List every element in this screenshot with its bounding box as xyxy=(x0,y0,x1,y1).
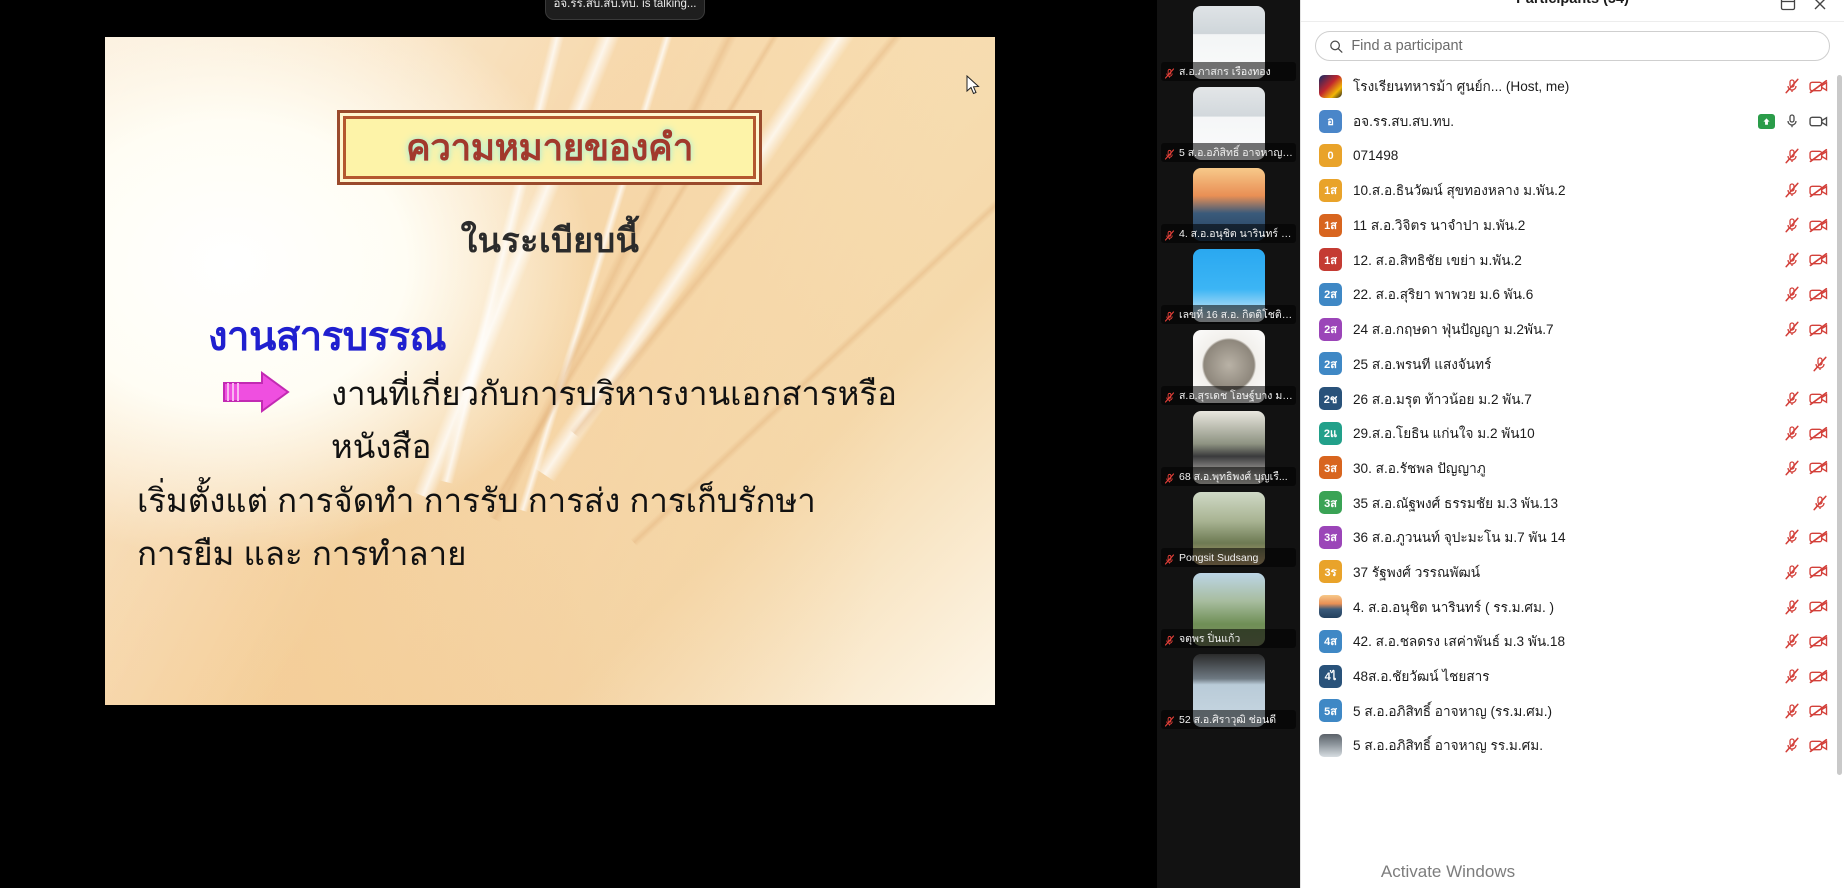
camera-off-icon xyxy=(1809,564,1828,579)
camera-off-icon xyxy=(1809,287,1828,302)
avatar: 1ส xyxy=(1319,248,1342,271)
meeting-stage: อจ.รร.สบ.สบ.ทบ. is talking... ความหมายขอ… xyxy=(0,0,1300,888)
avatar xyxy=(1319,734,1342,757)
mic-off-icon xyxy=(1784,703,1800,719)
mic-off-icon xyxy=(1784,737,1800,753)
avatar: 4ส xyxy=(1319,630,1342,653)
participant-search-wrapper xyxy=(1301,22,1844,69)
participant-row[interactable]: ออจ.รร.สบ.สบ.ทบ. xyxy=(1301,104,1844,139)
mic-off-icon xyxy=(1164,552,1175,563)
participant-row[interactable]: 2ส22. ส.อ.สุริยา พาพวย ม.6 พัน.6 xyxy=(1301,277,1844,312)
slide-heading: งานสารบรรณ xyxy=(208,304,446,368)
avatar: 3ส xyxy=(1319,526,1342,549)
mic-off-icon xyxy=(1784,78,1800,94)
participant-row[interactable]: 3ส35 ส.อ.ณัฐพงศ์ ธรรมชัย ม.3 พัน.13 xyxy=(1301,485,1844,520)
camera-off-icon xyxy=(1809,530,1828,545)
avatar: 2ส xyxy=(1319,283,1342,306)
participant-name: อจ.รร.สบ.สบ.ทบ. xyxy=(1353,110,1747,132)
participant-row[interactable]: 1ส11 ส.อ.วิจิตร นาจำปา ม.พัน.2 xyxy=(1301,208,1844,243)
mic-off-icon xyxy=(1784,425,1800,441)
participant-name: 42. ส.อ.ชลดรง เสค่าพันธ์ ม.3 พัน.18 xyxy=(1353,630,1773,652)
participants-list[interactable]: โรงเรียนทหารม้า ศูนย์ก... (Host, me) ออจ… xyxy=(1301,69,1844,888)
mic-off-icon xyxy=(1784,668,1800,684)
participant-name: 071498 xyxy=(1353,148,1773,163)
mic-off-icon xyxy=(1164,633,1175,644)
mic-off-icon xyxy=(1164,635,1175,646)
thumbnail-label: ส.อ.ภาสกร เรืองทอง xyxy=(1161,62,1296,81)
avatar xyxy=(1319,595,1342,618)
participant-name: 4. ส.อ.อนุชิต นารินทร์ ( รร.ม.ศม. ) xyxy=(1353,596,1773,618)
participant-name: 25 ส.อ.พรนที แสงจันทร์ xyxy=(1353,353,1801,375)
participants-panel-title: Participants (54) xyxy=(1301,0,1844,7)
participant-row[interactable]: 0071498 xyxy=(1301,138,1844,173)
participant-status-badges xyxy=(1784,391,1828,407)
mic-off-icon xyxy=(1164,471,1175,482)
camera-off-icon xyxy=(1809,391,1828,406)
mic-off-icon xyxy=(1784,564,1800,580)
mic-off-icon xyxy=(1164,390,1175,401)
mic-off-icon xyxy=(1784,391,1800,407)
participant-row[interactable]: 2ส25 ส.อ.พรนที แสงจันทร์ xyxy=(1301,347,1844,382)
camera-off-icon xyxy=(1809,669,1828,684)
participant-row[interactable]: 2แ29.ส.อ.โยธิน แก่นใจ ม.2 พัน10 xyxy=(1301,416,1844,451)
participants-scrollbar[interactable] xyxy=(1837,75,1842,775)
avatar: 2แ xyxy=(1319,422,1342,445)
mic-off-icon xyxy=(1164,473,1175,484)
video-thumbnail-strip[interactable]: ส.อ.ภาสกร เรืองทอง 5 ส.อ.อภิสิทธิ์ อาจหา… xyxy=(1157,0,1300,888)
close-icon[interactable] xyxy=(1812,0,1828,12)
mic-off-icon xyxy=(1164,311,1175,322)
video-thumbnail[interactable]: ส.อ.ภาสกร เรืองทอง xyxy=(1157,6,1300,81)
participants-panel-header: Participants (54) xyxy=(1301,0,1844,22)
participant-name: 24 ส.อ.กฤษดา ฟุ่นปัญญา ม.2พัน.7 xyxy=(1353,318,1773,340)
participant-search-box[interactable] xyxy=(1315,31,1830,61)
camera-off-icon xyxy=(1809,252,1828,267)
participant-name: โรงเรียนทหารม้า ศูนย์ก... (Host, me) xyxy=(1353,75,1773,97)
slide-body-line-1: งานที่เกี่ยวกับการบริหารงานเอกสารหรือหนั… xyxy=(331,367,983,474)
camera-off-icon xyxy=(1809,426,1828,441)
mic-on-icon xyxy=(1784,113,1800,129)
mic-off-icon xyxy=(1164,66,1175,77)
video-thumbnail[interactable]: ส.อ.สุรเดช โอษฐ์บาง ม.พั... xyxy=(1157,330,1300,405)
mic-off-icon xyxy=(1164,228,1175,239)
participant-row[interactable]: 5ส5 ส.อ.อภิสิทธิ์ อาจหาญ (รร.ม.ศม.) xyxy=(1301,693,1844,728)
avatar: 1ส xyxy=(1319,179,1342,202)
participant-status-badges xyxy=(1784,703,1828,719)
slide-title: ความหมายของคำ xyxy=(406,118,693,177)
camera-off-icon xyxy=(1809,460,1828,475)
thumbnail-label: 5 ส.อ.อภิสิทธิ์ อาจหาญ ... xyxy=(1161,143,1296,162)
participants-panel[interactable]: Participants (54) โรงเรียนทหารม้า ศูนย์ก… xyxy=(1300,0,1844,888)
participant-status-badges xyxy=(1784,286,1828,302)
slide-subtitle: ในระเบียบนี้ xyxy=(105,213,995,267)
video-thumbnail[interactable]: 5 ส.อ.อภิสิทธิ์ อาจหาญ ... xyxy=(1157,87,1300,162)
camera-off-icon xyxy=(1809,218,1828,233)
mic-off-icon xyxy=(1784,321,1800,337)
participant-status-badges xyxy=(1784,599,1828,615)
participant-status-badges xyxy=(1784,529,1828,545)
participant-name: 29.ส.อ.โยธิน แก่นใจ ม.2 พัน10 xyxy=(1353,422,1773,444)
participant-status-badges xyxy=(1784,425,1828,441)
participant-status-badges xyxy=(1784,217,1828,233)
participant-row[interactable]: 3ร37 รัฐพงศ์ วรรณพัฒน์ xyxy=(1301,555,1844,590)
mic-off-icon xyxy=(1812,495,1828,511)
participant-row[interactable]: 1ส12. ส.อ.สิทธิชัย เขย่า ม.พัน.2 xyxy=(1301,242,1844,277)
mic-off-icon xyxy=(1784,529,1800,545)
avatar: อ xyxy=(1319,110,1342,133)
participant-status-badges xyxy=(1784,148,1828,164)
participant-status-badges xyxy=(1784,668,1828,684)
thumbnail-participant-name: 52 ส.อ.ศิราวุฒิ ช่อนดี xyxy=(1179,711,1276,728)
participant-row[interactable]: 3ส30. ส.อ.รัชพล ปัญญาภู xyxy=(1301,451,1844,486)
video-thumbnail[interactable]: 68 ส.อ.พุทธิพงศ์ บุญเรื... xyxy=(1157,411,1300,486)
thumbnail-label: 52 ส.อ.ศิราวุฒิ ช่อนดี xyxy=(1161,710,1296,729)
shared-slide[interactable]: ความหมายของคำ ในระเบียบนี้ งานสารบรรณ งา… xyxy=(105,37,995,705)
participant-name: 37 รัฐพงศ์ วรรณพัฒน์ xyxy=(1353,561,1773,583)
thumbnail-participant-name: ส.อ.สุรเดช โอษฐ์บาง ม.พั... xyxy=(1179,387,1293,404)
thumbnail-label: Pongsit Sudsang xyxy=(1161,548,1296,567)
avatar: 1ส xyxy=(1319,214,1342,237)
mic-off-icon xyxy=(1164,230,1175,241)
avatar xyxy=(1319,75,1342,98)
avatar: 0 xyxy=(1319,144,1342,167)
participant-row[interactable]: 4. ส.อ.อนุชิต นารินทร์ ( รร.ม.ศม. ) xyxy=(1301,589,1844,624)
avatar: 2ส xyxy=(1319,352,1342,375)
participant-status-badges xyxy=(1784,182,1828,198)
avatar: 2ช xyxy=(1319,387,1342,410)
mic-off-icon xyxy=(1164,68,1175,79)
participant-status-badges xyxy=(1784,321,1828,337)
participant-row[interactable]: 2ส24 ส.อ.กฤษดา ฟุ่นปัญญา ม.2พัน.7 xyxy=(1301,312,1844,347)
camera-off-icon xyxy=(1809,634,1828,649)
avatar: 2ส xyxy=(1319,318,1342,341)
participant-name: 22. ส.อ.สุริยา พาพวย ม.6 พัน.6 xyxy=(1353,283,1773,305)
participant-name: 10.ส.อ.ธินวัฒน์ สุขทองหลาง ม.พัน.2 xyxy=(1353,179,1773,201)
video-thumbnail[interactable]: 4. ส.อ.อนุชิต นารินทร์ ( ... xyxy=(1157,168,1300,243)
participant-name: 12. ส.อ.สิทธิชัย เขย่า ม.พัน.2 xyxy=(1353,249,1773,271)
mic-off-icon xyxy=(1164,716,1175,727)
raise-hand-badge[interactable] xyxy=(1758,114,1775,129)
participant-row[interactable]: 5 ส.อ.อภิสิทธิ์ อาจหาญ รร.ม.ศม. xyxy=(1301,728,1844,763)
mic-off-icon xyxy=(1784,286,1800,302)
participant-status-badges xyxy=(1784,564,1828,580)
camera-off-icon xyxy=(1809,738,1828,753)
thumbnail-participant-name: Pongsit Sudsang xyxy=(1179,552,1258,564)
participant-status-badges xyxy=(1784,633,1828,649)
mic-off-icon xyxy=(1784,633,1800,649)
participant-name: 5 ส.อ.อภิสิทธิ์ อาจหาญ (รร.ม.ศม.) xyxy=(1353,700,1773,722)
video-thumbnail[interactable]: Pongsit Sudsang xyxy=(1157,492,1300,567)
camera-off-icon xyxy=(1809,703,1828,718)
thumbnail-participant-name: 5 ส.อ.อภิสิทธิ์ อาจหาญ ... xyxy=(1179,144,1293,161)
camera-off-icon xyxy=(1809,599,1828,614)
camera-off-icon xyxy=(1809,148,1828,163)
mic-off-icon xyxy=(1164,149,1175,160)
mic-off-icon xyxy=(1784,460,1800,476)
mic-off-icon xyxy=(1784,252,1800,268)
camera-off-icon xyxy=(1809,79,1828,94)
video-thumbnail[interactable]: 52 ส.อ.ศิราวุฒิ ช่อนดี xyxy=(1157,654,1300,729)
participant-name: 30. ส.อ.รัชพล ปัญญาภู xyxy=(1353,457,1773,479)
thumbnail-label: ส.อ.สุรเดช โอษฐ์บาง ม.พั... xyxy=(1161,386,1296,405)
avatar: 4ไ xyxy=(1319,665,1342,688)
talking-indicator: อจ.รร.สบ.สบ.ทบ. is talking... xyxy=(545,0,705,20)
camera-off-icon xyxy=(1809,183,1828,198)
thumbnail-label: จตุพร ปิ่นแก้ว xyxy=(1161,629,1296,648)
popout-icon[interactable] xyxy=(1780,0,1796,12)
mic-off-icon xyxy=(1164,554,1175,565)
mic-off-icon xyxy=(1164,714,1175,725)
thumbnail-participant-name: จตุพร ปิ่นแก้ว xyxy=(1179,630,1240,647)
mic-off-icon xyxy=(1164,147,1175,158)
participant-row[interactable]: 4ไ48ส.อ.ชัยวัฒน์ ไชยสาร xyxy=(1301,659,1844,694)
participant-status-badges xyxy=(1784,737,1828,753)
thumbnail-participant-name: 68 ส.อ.พุทธิพงศ์ บุญเรื... xyxy=(1179,468,1288,485)
avatar: 3ส xyxy=(1319,491,1342,514)
thumbnail-participant-name: 4. ส.อ.อนุชิต นารินทร์ ( ... xyxy=(1179,225,1293,242)
mic-off-icon xyxy=(1784,182,1800,198)
participant-row[interactable]: 1ส10.ส.อ.ธินวัฒน์ สุขทองหลาง ม.พัน.2 xyxy=(1301,173,1844,208)
participant-row[interactable]: 3ส36 ส.อ.ภูวนนท์ จุปะมะโน ม.7 พัน 14 xyxy=(1301,520,1844,555)
slide-body: งานที่เกี่ยวกับการบริหารงานเอกสารหรือหนั… xyxy=(131,367,983,581)
slide-body-line-2: เริ่มตั้งแต่ การจัดทำ การรับ การส่ง การเ… xyxy=(137,474,983,527)
participant-name: 35 ส.อ.ณัฐพงศ์ ธรรมชัย ม.3 พัน.13 xyxy=(1353,492,1801,514)
participant-status-badges xyxy=(1784,252,1828,268)
participant-name: 5 ส.อ.อภิสิทธิ์ อาจหาญ รร.ม.ศม. xyxy=(1353,734,1773,756)
thumbnail-participant-name: ส.อ.ภาสกร เรืองทอง xyxy=(1179,63,1271,80)
search-icon xyxy=(1329,39,1343,54)
thumbnail-label: 4. ส.อ.อนุชิต นารินทร์ ( ... xyxy=(1161,224,1296,243)
arrow-up-icon xyxy=(1762,117,1771,126)
participant-status-badges xyxy=(1758,113,1828,129)
mic-off-icon xyxy=(1812,356,1828,372)
mouse-cursor xyxy=(966,75,980,95)
thumbnail-participant-name: เลขที่ 16 ส.อ. กิตติโชติ ท. xyxy=(1179,306,1293,323)
participant-status-badges xyxy=(1784,78,1828,94)
video-thumbnail[interactable]: จตุพร ปิ่นแก้ว xyxy=(1157,573,1300,648)
mic-off-icon xyxy=(1164,392,1175,403)
participant-row[interactable]: 4ส42. ส.อ.ชลดรง เสค่าพันธ์ ม.3 พัน.18 xyxy=(1301,624,1844,659)
participant-status-badges xyxy=(1784,460,1828,476)
mic-off-icon xyxy=(1784,148,1800,164)
avatar: 3ส xyxy=(1319,456,1342,479)
camera-off-icon xyxy=(1809,322,1828,337)
mic-off-icon xyxy=(1784,599,1800,615)
participant-row[interactable]: โรงเรียนทหารม้า ศูนย์ก... (Host, me) xyxy=(1301,69,1844,104)
participant-row[interactable]: 2ช26 ส.อ.มรุต ท้าวน้อย ม.2 พัน.7 xyxy=(1301,381,1844,416)
avatar: 3ร xyxy=(1319,560,1342,583)
mic-off-icon xyxy=(1784,217,1800,233)
participant-name: 48ส.อ.ชัยวัฒน์ ไชยสาร xyxy=(1353,665,1773,687)
thumbnail-label: 68 ส.อ.พุทธิพงศ์ บุญเรื... xyxy=(1161,467,1296,486)
participant-name: 11 ส.อ.วิจิตร นาจำปา ม.พัน.2 xyxy=(1353,214,1773,236)
camera-on-icon xyxy=(1809,114,1828,129)
participant-status-badges xyxy=(1812,356,1828,372)
avatar: 5ส xyxy=(1319,699,1342,722)
search-input[interactable] xyxy=(1351,38,1816,54)
participant-name: 36 ส.อ.ภูวนนท์ จุปะมะโน ม.7 พัน 14 xyxy=(1353,526,1773,548)
mic-off-icon xyxy=(1164,309,1175,320)
video-thumbnail[interactable]: เลขที่ 16 ส.อ. กิตติโชติ ท. xyxy=(1157,249,1300,324)
participant-status-badges xyxy=(1812,495,1828,511)
slide-body-line-3: การยืม และ การทำลาย xyxy=(137,527,983,580)
slide-title-box: ความหมายของคำ xyxy=(337,110,762,185)
participant-name: 26 ส.อ.มรุต ท้าวน้อย ม.2 พัน.7 xyxy=(1353,388,1773,410)
thumbnail-label: เลขที่ 16 ส.อ. กิตติโชติ ท. xyxy=(1161,305,1296,324)
